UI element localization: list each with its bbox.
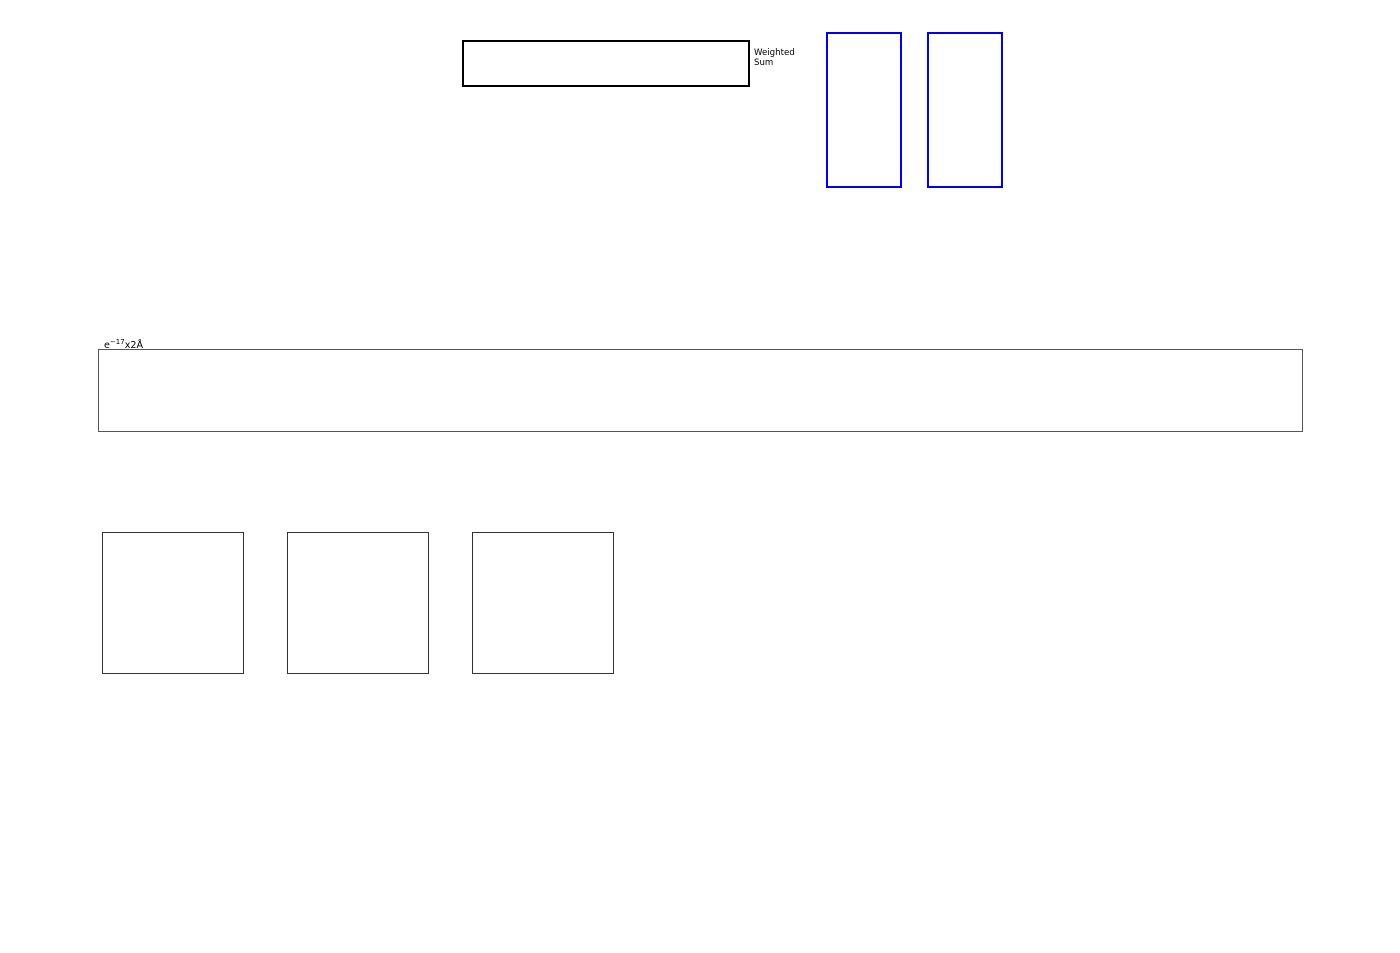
emission-line-zoom-plot [1040, 42, 1340, 247]
montage-weighted-sum-label: WeightedSum [754, 48, 795, 68]
cutout-clean-image [925, 32, 1003, 188]
cutout-with-sky [824, 32, 902, 188]
header-timestamp-version [1322, 5, 1338, 21]
info-cont-w [68, 30, 78, 47]
full-spectrum-plot [98, 349, 1303, 432]
montage-row-weighted-sum [462, 40, 750, 87]
info-plae-poii [68, 47, 78, 64]
spectrum-line-labels [0, 276, 1400, 348]
header-summary-line [68, 4, 185, 20]
hscdex-headline [68, 483, 69, 498]
object-info-block [68, 30, 78, 63]
spectrum-unit-label: e−17x2Å [104, 338, 143, 351]
